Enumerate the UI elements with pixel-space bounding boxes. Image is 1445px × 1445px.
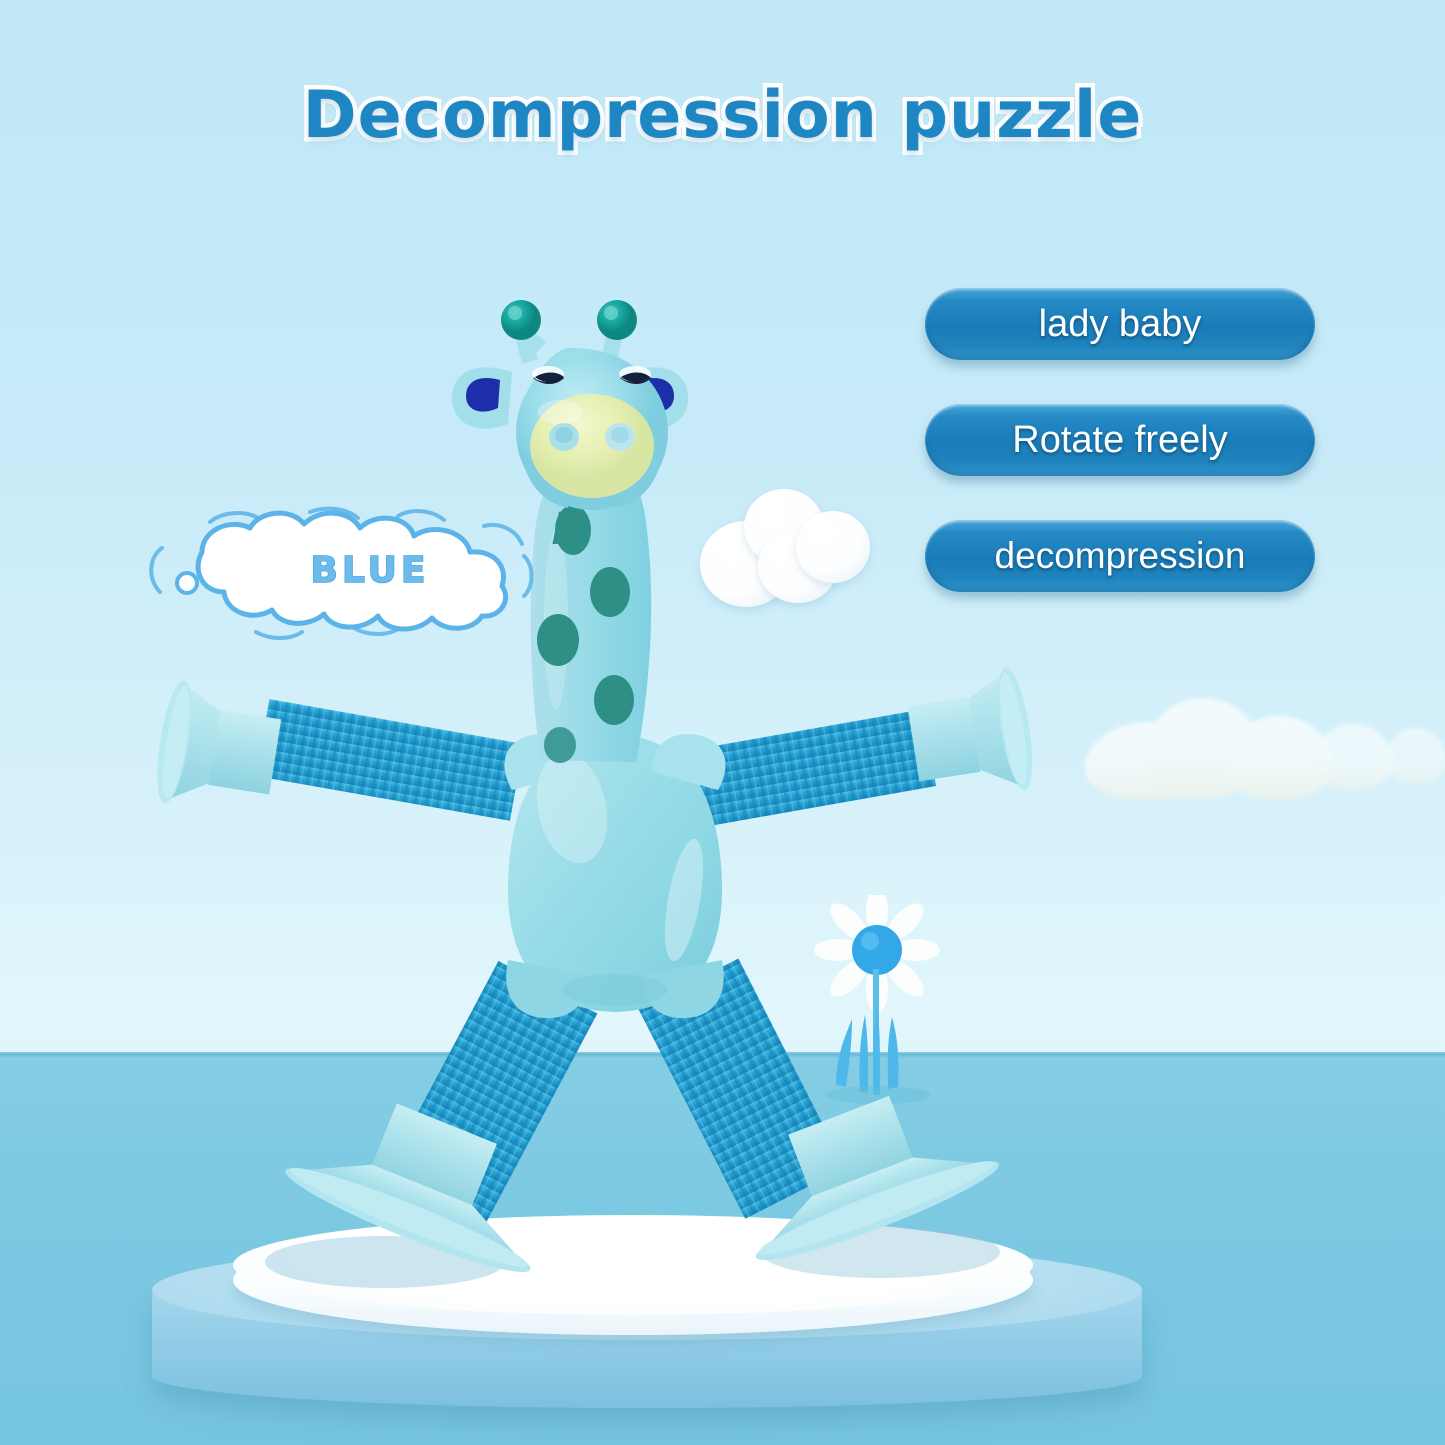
color-variant-label: BLUE [140, 500, 540, 645]
arm-right [666, 665, 1038, 831]
feature-badge-lady-baby[interactable]: lady baby [925, 288, 1315, 360]
feature-badge-label: Rotate freely [1012, 419, 1227, 462]
feature-badge-rotate-freely[interactable]: Rotate freely [925, 404, 1315, 476]
product-image-scene: BLUE Decompression puzzle lady baby Rota… [0, 0, 1445, 1445]
color-label-text: BLUE [140, 550, 540, 591]
feature-badge-label: decompression [995, 535, 1246, 577]
arm-left [151, 679, 524, 821]
giraffe-pop-tube-toy [0, 0, 1445, 1445]
feature-badge-decompression[interactable]: decompression [925, 520, 1315, 592]
giraffe-neck [531, 468, 652, 763]
giraffe-body [505, 734, 726, 1018]
giraffe-head [452, 300, 688, 510]
page-title-text: Decompression puzzle [303, 78, 1143, 153]
horn-left [501, 300, 546, 363]
feature-badge-label: lady baby [1039, 303, 1202, 346]
ear-left [452, 367, 512, 428]
feature-badge-list: lady baby Rotate freely decompression [925, 288, 1315, 636]
page-title: Decompression puzzle [0, 78, 1445, 153]
